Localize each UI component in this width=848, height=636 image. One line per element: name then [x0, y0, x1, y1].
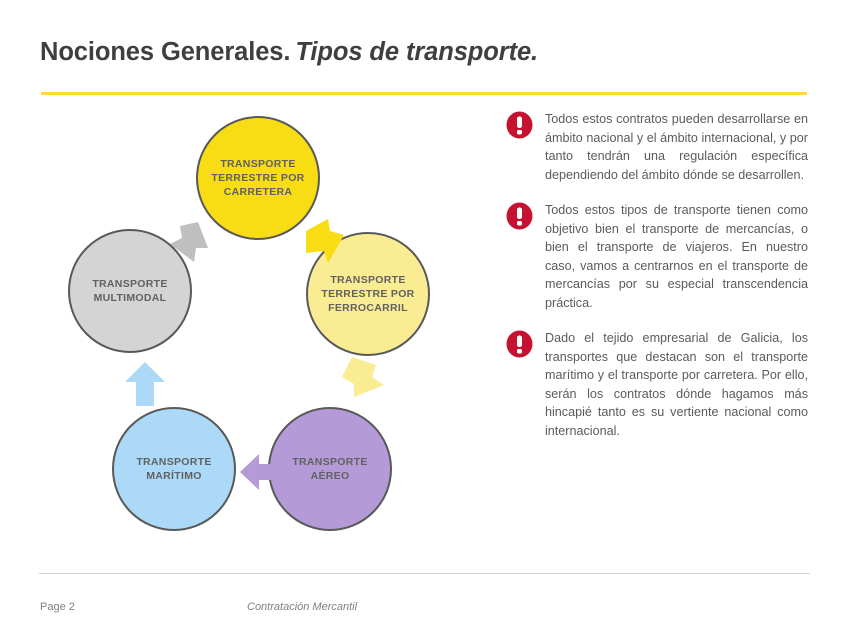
transport-cycle-diagram: TRANSPORTE TERRESTRE POR CARRETERA TRANS… [40, 104, 500, 559]
title-underline-rule [41, 92, 807, 95]
diagram-node-multimodal-label: TRANSPORTE MULTIMODAL [70, 277, 190, 305]
arrow-multimodal-to-carretera-icon [168, 220, 216, 268]
arrow-carretera-to-ferrocarril-icon [302, 219, 348, 269]
arrow-aereo-to-maritimo-icon [240, 451, 288, 493]
footer-page-number: Page 2 [40, 601, 75, 613]
arrow-ferrocarril-to-aereo-icon [340, 357, 386, 403]
list-item: Todos estos contratos pueden desarrollar… [506, 110, 808, 184]
diagram-node-ferrocarril-label: TRANSPORTE TERRESTRE POR FERROCARRIL [308, 273, 428, 316]
list-item: Dado el tejido empresarial de Galicia, l… [506, 329, 808, 440]
exclamation-alert-icon [506, 202, 533, 230]
list-item-text: Todos estos contratos pueden desarrollar… [545, 110, 808, 184]
list-item: Todos estos tipos de transporte tienen c… [506, 201, 808, 312]
list-item-text: Dado el tejido empresarial de Galicia, l… [545, 329, 808, 440]
diagram-node-maritimo[interactable]: TRANSPORTE MARÍTIMO [112, 407, 236, 531]
diagram-node-carretera-label: TRANSPORTE TERRESTRE POR CARRETERA [198, 157, 318, 200]
exclamation-alert-icon [506, 330, 533, 358]
footer-divider [39, 573, 810, 574]
diagram-node-maritimo-label: TRANSPORTE MARÍTIMO [114, 455, 234, 483]
arrow-maritimo-to-multimodal-icon [124, 362, 166, 408]
exclamation-alert-icon [506, 111, 533, 139]
diagram-node-aereo-label: TRANSPORTE AÉREO [270, 455, 390, 483]
page-title-sub: Tipos de transporte. [295, 38, 538, 66]
list-item-text: Todos estos tipos de transporte tienen c… [545, 201, 808, 312]
notes-bullet-list: Todos estos contratos pueden desarrollar… [506, 110, 808, 440]
page-title-main: Nociones Generales. [40, 38, 290, 66]
footer-document-title: Contratación Mercantil [247, 601, 357, 613]
page-title: Nociones Generales.Tipos de transporte. [40, 38, 538, 67]
